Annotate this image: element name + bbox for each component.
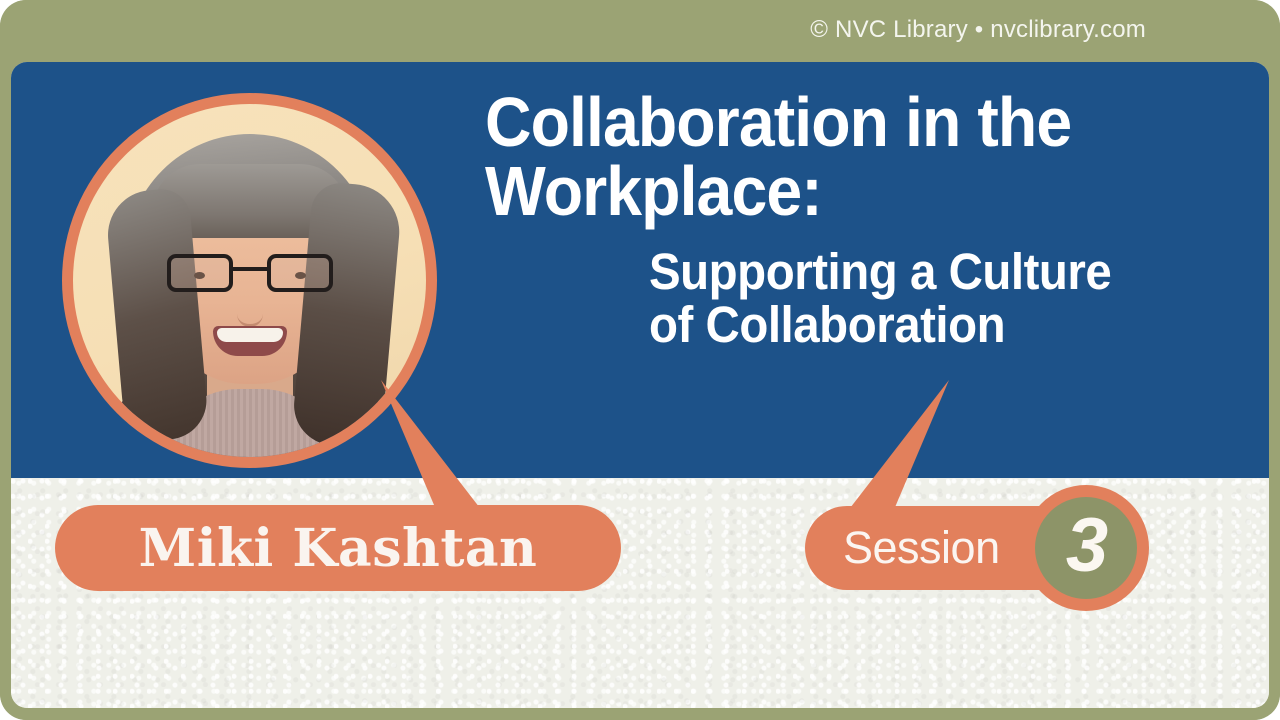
- portrait-nose: [237, 300, 263, 327]
- portrait-teeth: [217, 328, 283, 342]
- title-block: Collaboration in the Workplace: Supporti…: [485, 88, 1225, 351]
- copyright-bar: © NVC Library • nvclibrary.com: [0, 0, 1280, 60]
- glasses-lens-right: [267, 254, 333, 292]
- copyright-text: © NVC Library • nvclibrary.com: [810, 16, 1146, 44]
- name-bubble-tail: [341, 380, 501, 520]
- session-bubble-tail: [819, 380, 979, 520]
- session-number-badge: 3: [1023, 485, 1149, 611]
- session-label: Session: [843, 522, 1000, 574]
- portrait-mouth: [213, 326, 287, 356]
- page-title: Collaboration in the Workplace:: [485, 88, 1166, 225]
- session-number-circle: 3: [1035, 497, 1137, 599]
- presenter-name-label: Miki Kashtan: [139, 518, 538, 579]
- presentation-slide: © NVC Library • nvclibrary.com: [0, 0, 1280, 720]
- glasses-icon: [167, 254, 333, 294]
- glasses-bridge: [233, 267, 267, 271]
- session-number-label: 3: [1066, 508, 1106, 584]
- page-subtitle: Supporting a Culture of Collaboration: [649, 245, 1185, 351]
- glasses-lens-left: [167, 254, 233, 292]
- presenter-name-badge: Miki Kashtan: [55, 505, 621, 591]
- slide-content-card: Collaboration in the Workplace: Supporti…: [11, 62, 1269, 708]
